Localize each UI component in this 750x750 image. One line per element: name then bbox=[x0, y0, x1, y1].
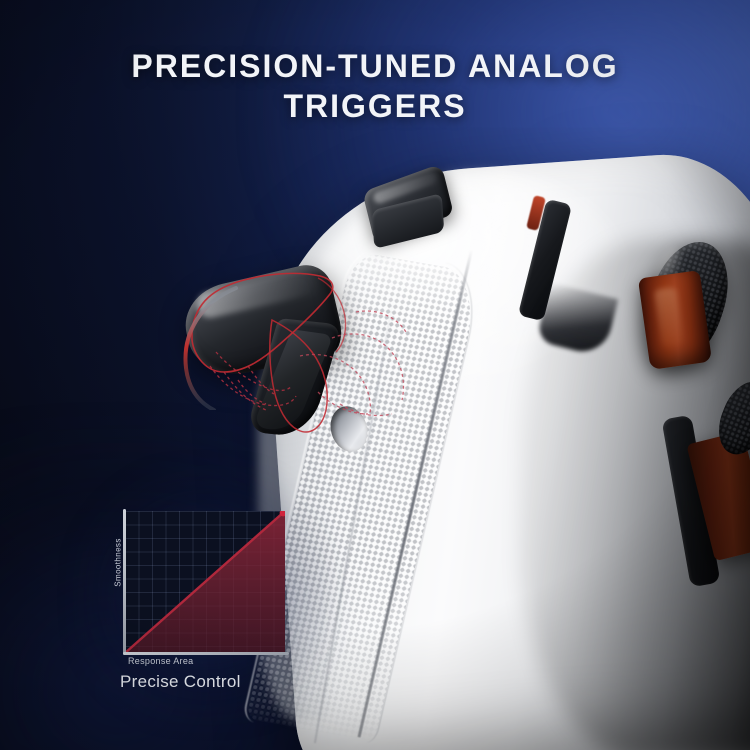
product-image-stage: Smoothness Response Area Precise Control… bbox=[0, 0, 750, 750]
background-vignette bbox=[0, 0, 750, 750]
